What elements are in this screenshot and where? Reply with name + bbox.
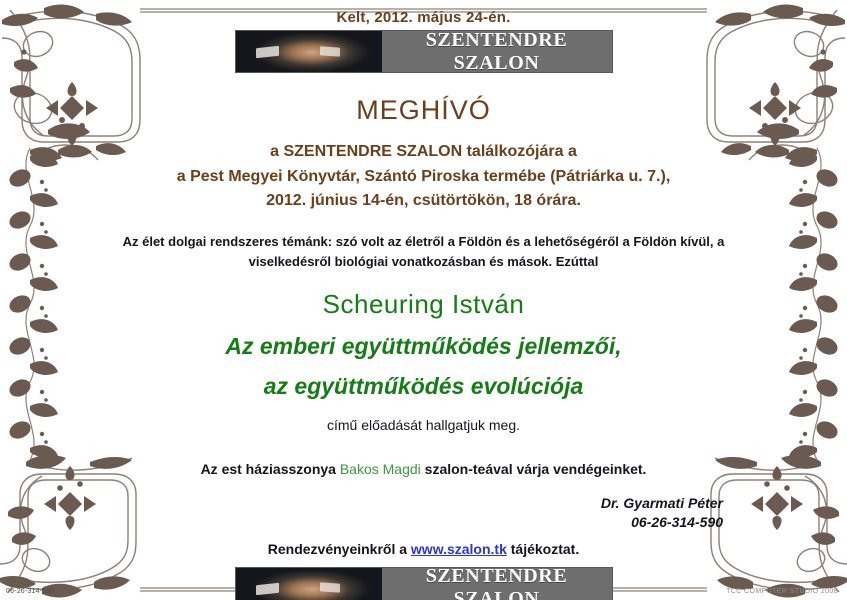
- website-suffix: tájékoztat.: [511, 541, 579, 557]
- signature-name: Dr. Gyarmati Péter: [62, 494, 723, 513]
- corner-phone: 06-26-314-590: [6, 588, 55, 595]
- subtitle-line-3: 2012. június 14-én, csütörtökön, 18 órár…: [62, 192, 785, 210]
- handshake-photo-icon: [236, 568, 382, 600]
- subtitle-line-2: a Pest Megyei Könyvtár, Szántó Piroska t…: [62, 168, 785, 186]
- logo-banner-top: SZENTENDRE SZALON: [235, 30, 613, 73]
- corner-credit: TCC COMPUTER STUDIO 2008: [726, 588, 838, 595]
- signature-block: Dr. Gyarmati Péter 06-26-314-590: [62, 494, 723, 532]
- invitation-content: Kelt, 2012. május 24-én. SZENTENDRE SZAL…: [62, 0, 785, 600]
- topic-line-2: az együttműködés evolúciója: [62, 373, 785, 400]
- date-line: Kelt, 2012. május 24-én.: [62, 9, 785, 26]
- hostess-name: Bakos Magdi: [340, 461, 421, 477]
- website-link[interactable]: www.szalon.tk: [411, 541, 507, 557]
- speaker-name: Scheuring István: [62, 289, 785, 320]
- invitation-page: Kelt, 2012. május 24-én. SZENTENDRE SZAL…: [0, 0, 847, 600]
- ornament-edge-right: [785, 148, 847, 460]
- logo-banner-bottom: SZENTENDRE SZALON: [235, 567, 613, 600]
- hostess-line: Az est háziasszonya Bakos Magdi szalon-t…: [62, 461, 785, 477]
- banner-brand-name: SZENTENDRE SZALON: [382, 568, 612, 600]
- hostess-prefix: Az est háziasszonya: [201, 461, 336, 477]
- hostess-suffix: szalon-teával várja vendégeinket.: [425, 461, 647, 477]
- website-prefix: Rendezvényeinkről a: [268, 541, 407, 557]
- signature-phone: 06-26-314-590: [62, 513, 723, 532]
- handshake-photo-icon: [236, 31, 382, 72]
- page-title: MEGHÍVÓ: [62, 95, 785, 126]
- website-line: Rendezvényeinkről a www.szalon.tk tájéko…: [62, 541, 785, 557]
- lecture-note: című előadását hallgatjuk meg.: [62, 417, 785, 433]
- ornament-edge-left: [0, 148, 62, 460]
- subtitle-line-1: a SZENTENDRE SZALON találkozójára a: [62, 143, 785, 161]
- topic-line-1: Az emberi együttműködés jellemzői,: [62, 333, 785, 360]
- banner-brand-name: SZENTENDRE SZALON: [382, 31, 612, 72]
- intro-paragraph: Az élet dolgai rendszeres témánk: szó vo…: [84, 232, 764, 271]
